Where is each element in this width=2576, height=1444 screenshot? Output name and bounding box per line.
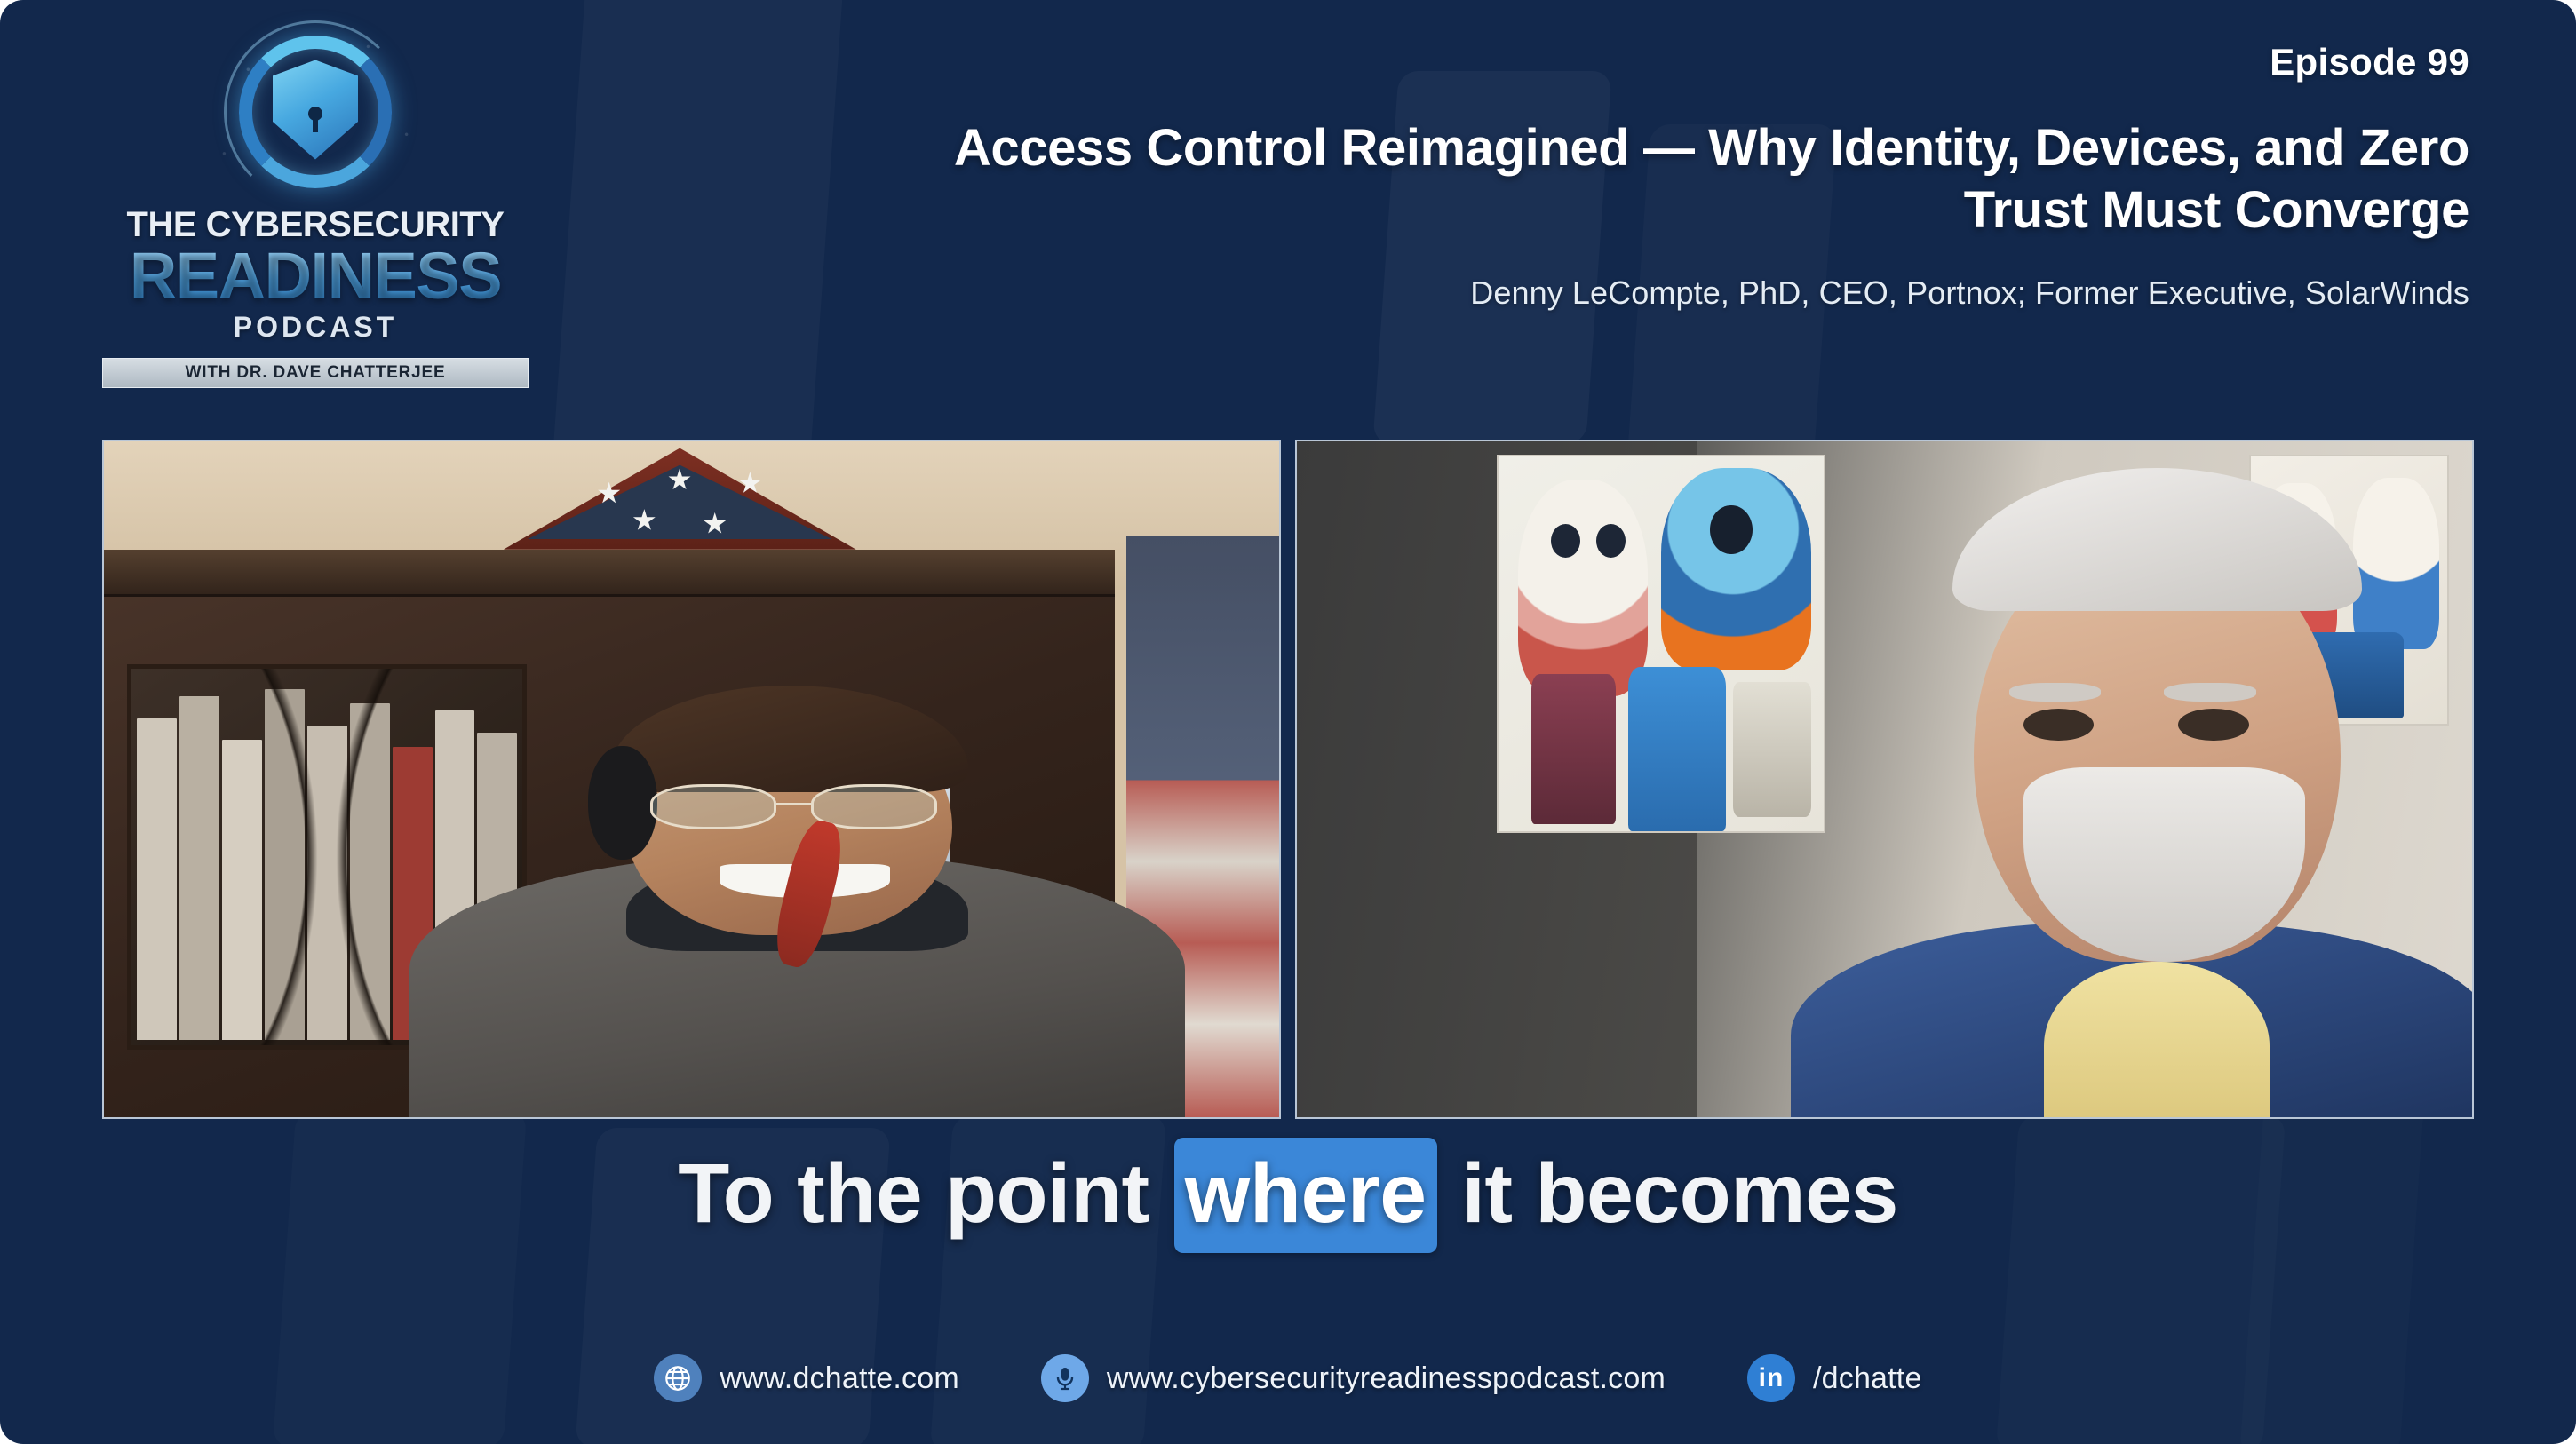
footer-link-linkedin[interactable]: in /dchatte: [1747, 1354, 1922, 1402]
video-grid: [102, 440, 2474, 1119]
episode-title: Access Control Reimagined — Why Identity…: [906, 117, 2469, 241]
microphone-icon: [1041, 1354, 1089, 1402]
linkedin-icon-label: in: [1759, 1363, 1785, 1393]
caption-after: it becomes: [1462, 1146, 1898, 1241]
footer-link-podcast[interactable]: www.cybersecurityreadinesspodcast.com: [1041, 1354, 1666, 1402]
guest-video-tile[interactable]: [1295, 440, 2474, 1119]
header: THE CYBERSECURITY READINESS PODCAST WITH…: [0, 0, 2576, 417]
shield-keyhole-icon: [195, 16, 435, 207]
logo-line-podcast: PODCAST: [102, 311, 529, 344]
footer-links: www.dchatte.com www.cybersecurityreadine…: [0, 1354, 2576, 1402]
live-caption: To the point where it becomes: [0, 1146, 2576, 1242]
footer-link-linkedin-label: /dchatte: [1813, 1361, 1922, 1396]
logo-line-readiness: READINESS: [102, 244, 529, 307]
globe-icon: [654, 1354, 702, 1402]
footer-link-website[interactable]: www.dchatte.com: [654, 1354, 958, 1402]
host-video-tile[interactable]: [102, 440, 1281, 1119]
episode-guest-credits: Denny LeCompte, PhD, CEO, Portnox; Forme…: [906, 274, 2469, 312]
logo-line-the-cybersecurity: THE CYBERSECURITY: [102, 207, 529, 242]
linkedin-icon: in: [1747, 1354, 1795, 1402]
episode-info: Episode 99 Access Control Reimagined — W…: [906, 41, 2469, 312]
caption-highlight-word: where: [1174, 1138, 1437, 1253]
caption-before: To the point: [678, 1146, 1149, 1241]
podcast-logo: THE CYBERSECURITY READINESS PODCAST WITH…: [102, 16, 529, 388]
host-name-banner: WITH DR. DAVE CHATTERJEE: [102, 358, 529, 388]
footer-link-podcast-label: www.cybersecurityreadinesspodcast.com: [1107, 1361, 1666, 1396]
podcast-video-frame: THE CYBERSECURITY READINESS PODCAST WITH…: [0, 0, 2576, 1444]
episode-number: Episode 99: [906, 41, 2469, 83]
footer-link-website-label: www.dchatte.com: [720, 1361, 958, 1396]
